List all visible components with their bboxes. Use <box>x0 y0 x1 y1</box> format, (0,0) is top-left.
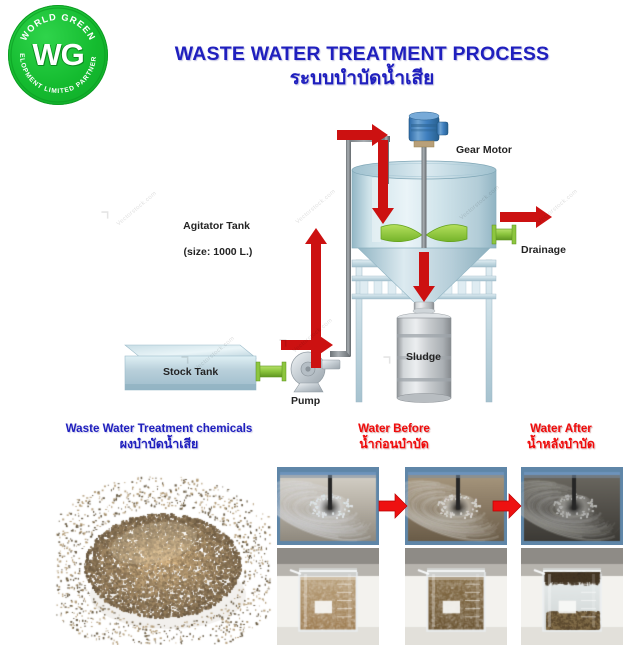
stock-tank-valve <box>256 362 286 381</box>
caption-before-en: Water Before <box>330 421 458 436</box>
label-drainage: Drainage <box>521 244 566 257</box>
watermark-glyph: ⌝ <box>382 353 392 379</box>
watermark-glyph: ⌝ <box>100 208 110 234</box>
photo-beaker-mid <box>405 548 507 645</box>
label-agitator-tank: Agitator Tank (size: 1000 L.) <box>166 207 252 272</box>
caption-water-before: Water Before น้ำก่อนบำบัด <box>330 421 458 453</box>
label-stock-tank: Stock Tank <box>163 366 218 379</box>
caption-chemicals-th: ผงบำบัดน้ำเสีย <box>28 436 290 453</box>
logo-initials: WG <box>8 39 108 70</box>
photo-beaker-after <box>521 548 623 645</box>
poster-canvas: WORLD GREEN DEVELOPMENT LIMITED PARTNERS… <box>0 0 630 647</box>
label-pump: Pump <box>291 395 320 408</box>
photo-chemical-powder <box>54 465 272 645</box>
caption-water-after: Water After น้ำหลังบำบัด <box>496 421 626 453</box>
caption-before-th: น้ำก่อนบำบัด <box>330 436 458 453</box>
label-agitator-tank-line1: Agitator Tank <box>183 220 250 232</box>
title-thai: ระบบบำบัดน้ำเสีย <box>112 66 612 92</box>
process-diagram: Vectorstock.com Vectorstock.com Vectorst… <box>0 108 630 408</box>
caption-chemicals-en: Waste Water Treatment chemicals <box>28 421 290 436</box>
caption-after-th: น้ำหลังบำบัด <box>496 436 626 453</box>
diagram-svg <box>0 108 630 408</box>
company-logo: WORLD GREEN DEVELOPMENT LIMITED PARTNERS… <box>8 5 108 105</box>
drainage-valve <box>492 225 516 244</box>
title-english: WASTE WATER TREATMENT PROCESS <box>112 42 612 66</box>
photo-tank-before <box>277 467 379 545</box>
label-sludge: Sludge <box>406 351 441 364</box>
label-agitator-tank-line2: (size: 1000 L.) <box>184 246 253 258</box>
gear-motor-icon <box>409 112 448 147</box>
arrow-before-to-mid <box>378 492 408 520</box>
caption-chemicals: Waste Water Treatment chemicals ผงบำบัดน… <box>28 421 290 453</box>
agitator-shaft <box>422 146 427 248</box>
caption-after-en: Water After <box>496 421 626 436</box>
photo-tank-after <box>521 467 623 545</box>
watermark-glyph: ⌝ <box>278 336 288 362</box>
arrow-mid-to-after <box>492 492 522 520</box>
page-title: WASTE WATER TREATMENT PROCESS ระบบบำบัดน… <box>112 42 612 92</box>
label-gear-motor: Gear Motor <box>456 144 512 157</box>
photo-beaker-before <box>277 548 379 645</box>
